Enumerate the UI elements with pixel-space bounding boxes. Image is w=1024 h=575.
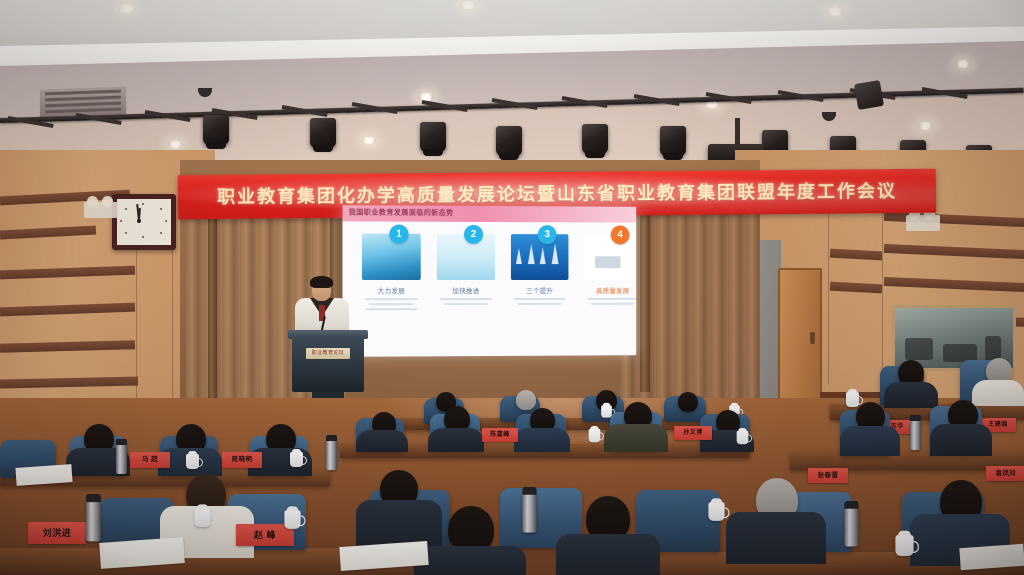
slide-item-textline	[587, 298, 636, 300]
nameplate: 孙文博	[674, 426, 712, 440]
teacup	[737, 431, 749, 445]
teacup	[846, 392, 859, 407]
teacup	[708, 502, 724, 521]
nameplate-text: 马 超	[130, 452, 170, 468]
speaker-glasses	[313, 287, 330, 292]
nameplate-text: 孙文博	[674, 426, 712, 440]
attendee-shoulders	[726, 512, 826, 564]
ceiling-speaker	[854, 80, 884, 110]
stage-light	[420, 122, 446, 152]
wall-clock	[112, 194, 176, 250]
side-door[interactable]	[778, 268, 822, 412]
slide-item-caption: 三个提升	[508, 285, 571, 295]
slide-item-1: 1 大力发展	[359, 234, 424, 314]
teacup	[895, 535, 913, 556]
nameplate: 刘洪进	[28, 522, 86, 544]
sail-shape	[516, 248, 522, 264]
slide-item-textline	[514, 298, 566, 300]
attendee-shoulders	[356, 430, 408, 452]
projector-mount	[735, 118, 740, 146]
wall-sconce	[84, 202, 118, 218]
projection-screen: 我国职业教育发展面临的新态势 1 大力发展 2 加快推进 3	[343, 205, 637, 357]
podium-plaque: 职业教育论坛	[306, 348, 350, 359]
thermos	[86, 501, 101, 542]
conference-hall-photo: 职业教育集团化办学高质量发展论坛暨山东省职业教育集团联盟年度工作会议 我国职业教…	[0, 0, 1024, 575]
attendee-shoulders	[514, 428, 570, 452]
downlight	[118, 4, 136, 13]
thermos	[522, 494, 536, 533]
nameplate-text: 陈嘉峰	[482, 428, 518, 442]
document-paper	[959, 544, 1024, 570]
slide-item-textline	[518, 303, 562, 305]
downlight	[826, 7, 844, 16]
slide-item-caption: 高质量发展	[581, 285, 636, 295]
attendee-shoulders	[428, 428, 484, 452]
slide-title-text: 我国职业教育发展面临的新态势	[349, 207, 454, 218]
nameplate: 周晓明	[222, 452, 262, 468]
attendee-head	[516, 390, 536, 410]
slide-item-4: 4 高质量发展	[581, 234, 636, 307]
clock-ticks	[120, 202, 168, 242]
teacup	[284, 510, 300, 529]
booth-equipment	[905, 338, 933, 360]
slide-item-caption: 大力发展	[359, 285, 424, 295]
stage-pillar	[208, 196, 217, 404]
slide-title-bar: 我国职业教育发展面临的新态势	[343, 205, 637, 222]
slide-item-textline	[369, 303, 414, 305]
panel-seam	[882, 200, 883, 380]
thermos	[116, 444, 127, 474]
attendee-shoulders	[884, 382, 938, 408]
teacup	[589, 429, 601, 443]
slide-item-3: 3 三个提升	[508, 234, 571, 308]
podium-plaque-text: 职业教育论坛	[306, 348, 350, 359]
slide-item-number: 4	[611, 226, 630, 245]
thermos	[326, 440, 337, 470]
stage-light	[203, 115, 229, 145]
downlight	[362, 137, 376, 144]
teacup	[290, 452, 303, 467]
nameplate: 袁凤玲	[986, 466, 1024, 481]
slide-item-2: 2 加快推进	[434, 234, 498, 308]
attendee-shoulders	[972, 380, 1024, 406]
stage-light	[310, 118, 336, 148]
sail-shape	[552, 243, 559, 264]
slide-item-textline	[591, 303, 634, 305]
nameplate-text: 周晓明	[222, 452, 262, 468]
stage-light	[582, 124, 608, 154]
stage-light	[660, 126, 686, 156]
clock-center-pin	[137, 219, 141, 223]
slide-item-number: 3	[538, 225, 557, 244]
slide-body: 1 大力发展 2 加快推进 3	[343, 221, 637, 356]
nameplate-text: 袁凤玲	[986, 466, 1024, 481]
attendee-shoulders	[604, 424, 668, 452]
slide-item-textline	[440, 298, 492, 300]
downlight	[168, 141, 183, 148]
wall-sconce	[906, 215, 940, 231]
nameplate: 马 超	[130, 452, 170, 468]
slide-item-glyph	[595, 256, 621, 268]
sail-shape	[528, 244, 535, 264]
nameplate: 张春雷	[808, 468, 848, 483]
nameplate-text: 张春雷	[808, 468, 848, 483]
thermos	[910, 420, 921, 450]
teacup	[186, 454, 199, 469]
slide-item-textline	[365, 308, 418, 310]
slide-item-number: 2	[464, 225, 483, 244]
stage-light	[496, 126, 522, 156]
sail-shape	[540, 247, 546, 264]
attendee-shoulders	[556, 534, 660, 575]
slide-item-number: 1	[389, 225, 408, 244]
attendee-shoulders	[414, 546, 526, 575]
teacup	[194, 508, 210, 527]
downlight	[918, 122, 933, 130]
nameplate: 陈嘉峰	[482, 428, 518, 442]
attendee-shoulders	[930, 424, 992, 456]
speaker-podium: 职业教育论坛	[292, 336, 364, 392]
attendee-shoulders	[840, 426, 900, 456]
slide-item-caption: 加快推进	[434, 285, 498, 295]
downlight	[460, 1, 477, 9]
panel-seam	[828, 210, 829, 385]
attendee-head	[678, 392, 698, 412]
slide-item-textline	[444, 303, 488, 305]
slide-item-textline	[365, 298, 418, 300]
slide-item-image	[584, 234, 636, 280]
thermos	[844, 508, 858, 547]
stage-pillar	[640, 196, 650, 392]
nameplate-text: 刘洪进	[28, 522, 86, 544]
downlight	[955, 60, 971, 68]
